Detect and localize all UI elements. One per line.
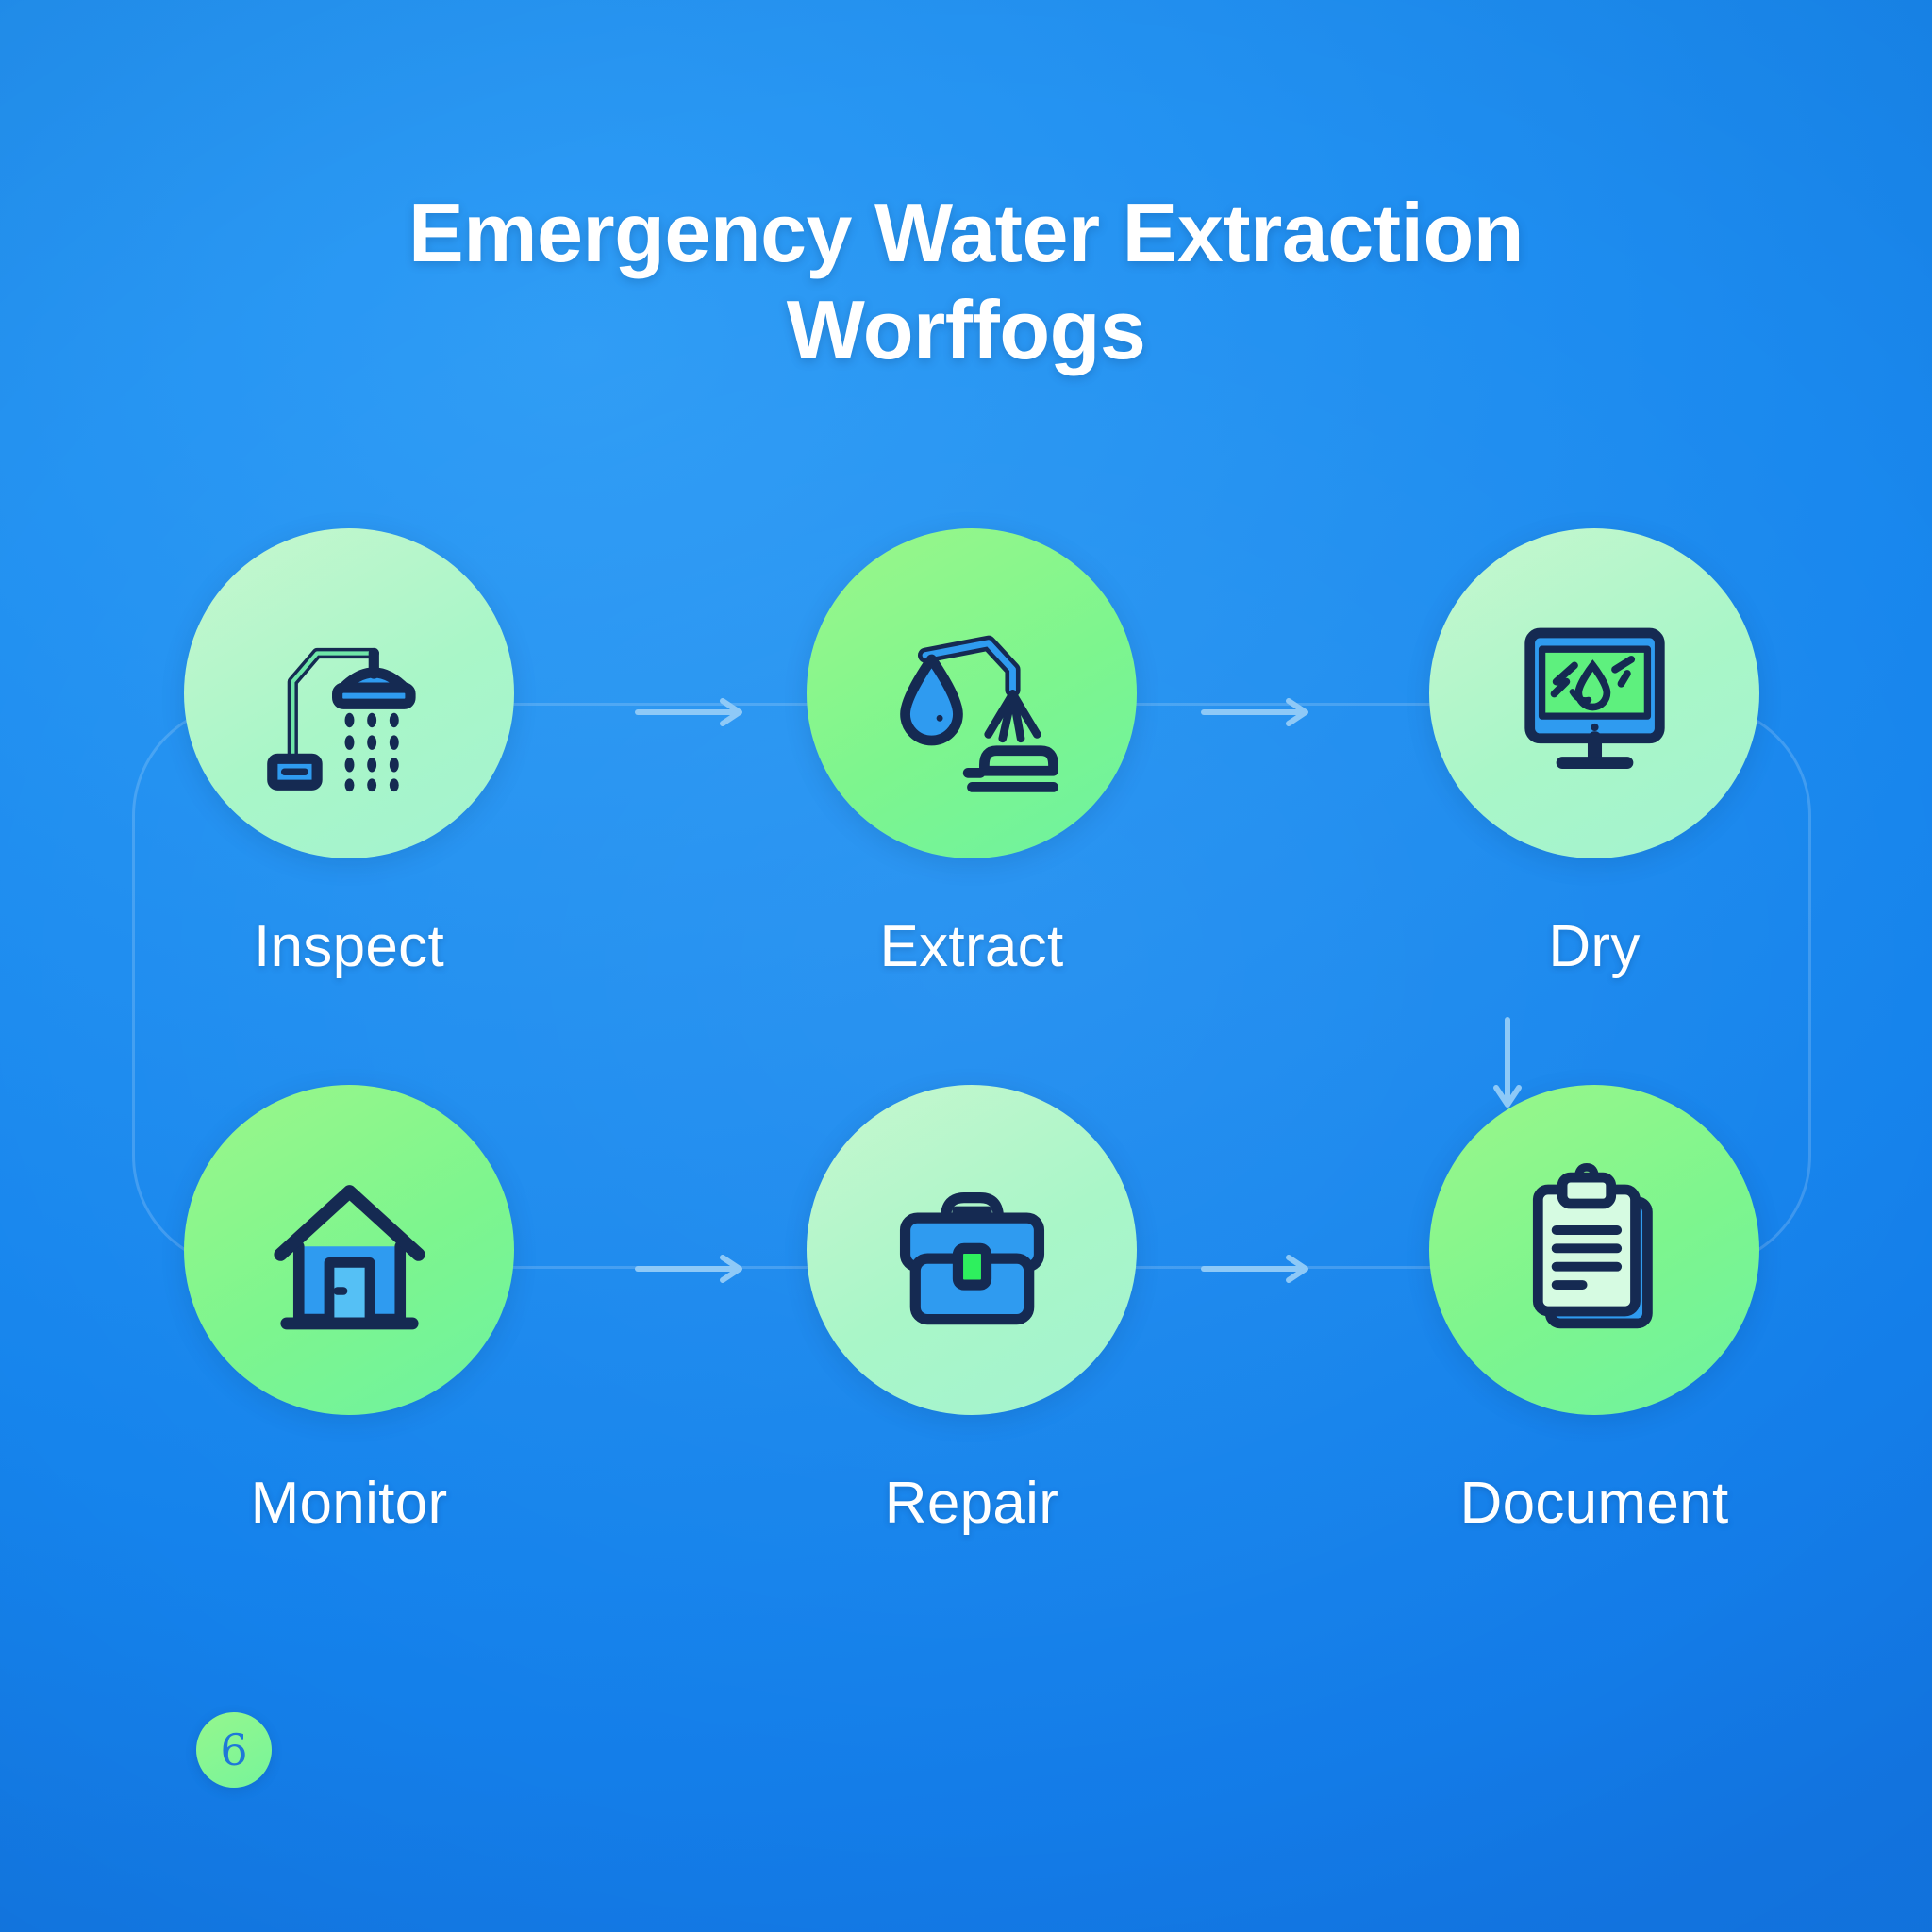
status-badge: 6 <box>196 1712 272 1788</box>
step-label: Inspect <box>254 913 444 980</box>
step-label: Document <box>1460 1470 1729 1537</box>
workflow-step-repair[interactable]: Repair <box>774 1085 1170 1537</box>
workflow-step-dry[interactable]: Dry <box>1396 528 1792 980</box>
step-icon-bubble <box>807 1085 1137 1415</box>
workflow-step-extract[interactable]: Extract <box>774 528 1170 980</box>
arrow-right-icon-extract-to-dry <box>1198 693 1321 731</box>
arrow-right-icon-inspect-to-extract <box>632 693 755 731</box>
infographic-poster: Emergency Water Extraction Worffogs <box>0 0 1932 1932</box>
shower-head-icon <box>248 592 451 795</box>
workflow-row-2: Monitor <box>151 1085 1792 1537</box>
step-icon-bubble <box>807 528 1137 858</box>
workflow-row-1: Inspect <box>151 528 1792 980</box>
arrow-right-icon-monitor-to-repair <box>632 1250 755 1288</box>
water-droplet-extraction-icon <box>871 592 1074 795</box>
workflow-step-document[interactable]: Document <box>1396 1085 1792 1537</box>
step-icon-bubble <box>184 1085 514 1415</box>
monitor-moisture-icon <box>1493 592 1696 795</box>
step-label: Repair <box>885 1470 1058 1537</box>
house-icon <box>248 1149 451 1352</box>
step-label: Dry <box>1548 913 1640 980</box>
badge-value: 6 <box>220 1728 247 1772</box>
title-line-1: Emergency Water Extraction <box>283 185 1649 282</box>
step-icon-bubble <box>184 528 514 858</box>
arrow-down-icon-dry-to-document <box>1489 1014 1526 1118</box>
title-line-2: Worffogs <box>283 282 1649 379</box>
workflow-step-monitor[interactable]: Monitor <box>151 1085 547 1537</box>
workflow-step-inspect[interactable]: Inspect <box>151 528 547 980</box>
arrow-right-icon-repair-to-document <box>1198 1250 1321 1288</box>
clipboard-icon <box>1493 1149 1696 1352</box>
step-icon-bubble <box>1429 528 1759 858</box>
toolbox-icon <box>871 1149 1074 1352</box>
page-title: Emergency Water Extraction Worffogs <box>0 185 1932 379</box>
step-label: Extract <box>879 913 1063 980</box>
step-label: Monitor <box>251 1470 448 1537</box>
step-icon-bubble <box>1429 1085 1759 1415</box>
